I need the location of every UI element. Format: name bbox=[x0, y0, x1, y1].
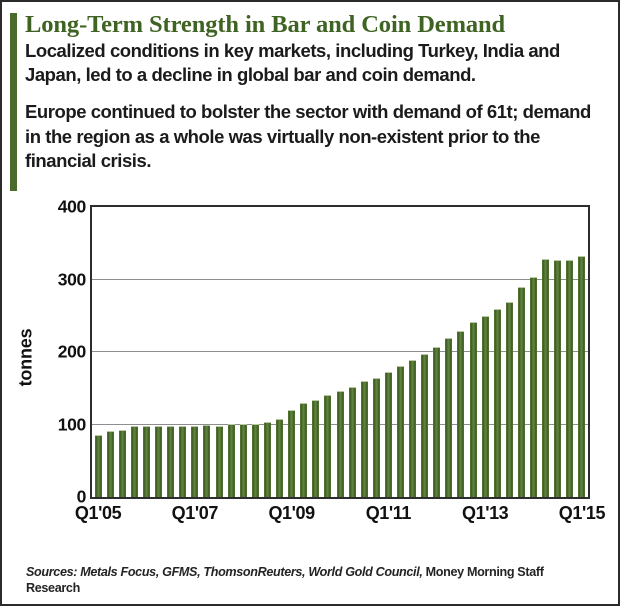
bar bbox=[216, 426, 223, 497]
y-tick-label: 300 bbox=[2, 269, 86, 290]
bar bbox=[457, 331, 464, 497]
bar bbox=[252, 424, 259, 498]
bar bbox=[337, 391, 344, 497]
x-tick-label: Q1'13 bbox=[440, 503, 530, 524]
bar bbox=[361, 381, 368, 497]
x-tick-label: Q1'07 bbox=[150, 503, 240, 524]
y-tick-label: 100 bbox=[2, 414, 86, 435]
bar bbox=[554, 260, 561, 497]
bar bbox=[373, 378, 380, 497]
bar bbox=[276, 419, 283, 497]
body-paragraph: Europe continued to bolster the sector w… bbox=[25, 100, 610, 174]
bar bbox=[300, 403, 307, 497]
bar bbox=[530, 277, 537, 497]
bar bbox=[155, 426, 162, 497]
bar bbox=[566, 260, 573, 497]
bar bbox=[167, 426, 174, 497]
bars-layer bbox=[92, 207, 588, 497]
bar bbox=[421, 354, 428, 497]
bar bbox=[119, 430, 126, 497]
bar bbox=[264, 422, 271, 497]
accent-bar bbox=[10, 13, 17, 191]
bar bbox=[542, 259, 549, 497]
bar bbox=[191, 426, 198, 497]
bar bbox=[445, 338, 452, 497]
bar bbox=[143, 426, 150, 497]
lede-paragraph: Localized conditions in key markets, inc… bbox=[25, 39, 610, 87]
infographic-card: Long-Term Strength in Bar and Coin Deman… bbox=[0, 0, 620, 606]
bar bbox=[494, 309, 501, 497]
bar bbox=[518, 287, 525, 497]
plot-area bbox=[90, 205, 590, 499]
bar bbox=[349, 387, 356, 497]
bar bbox=[107, 431, 114, 497]
bar bbox=[385, 372, 392, 497]
page-title: Long-Term Strength in Bar and Coin Deman… bbox=[25, 11, 610, 38]
x-tick-label: Q1'09 bbox=[247, 503, 337, 524]
x-tick-label: Q1'15 bbox=[537, 503, 620, 524]
sources-italic-text: Sources: Metals Focus, GFMS, ThomsonReut… bbox=[26, 565, 423, 579]
sources-note: Sources: Metals Focus, GFMS, ThomsonReut… bbox=[26, 564, 596, 596]
header-block: Long-Term Strength in Bar and Coin Deman… bbox=[10, 11, 610, 191]
bar bbox=[228, 424, 235, 498]
y-tick-label: 200 bbox=[2, 342, 86, 363]
bar bbox=[179, 426, 186, 497]
bar bbox=[409, 360, 416, 497]
y-tick-label: 400 bbox=[2, 197, 86, 218]
bar-chart: tonnes 0100200300400 Q1'05Q1'07Q1'09Q1'1… bbox=[2, 197, 620, 542]
bar bbox=[433, 347, 440, 497]
bar bbox=[482, 316, 489, 497]
bar bbox=[95, 435, 102, 497]
header-text: Long-Term Strength in Bar and Coin Deman… bbox=[25, 11, 610, 174]
x-tick-label: Q1'05 bbox=[53, 503, 143, 524]
bar bbox=[312, 400, 319, 497]
bar bbox=[240, 424, 247, 498]
bar bbox=[324, 395, 331, 497]
bar bbox=[470, 322, 477, 497]
bar bbox=[397, 366, 404, 498]
bar bbox=[203, 425, 210, 497]
x-tick-label: Q1'11 bbox=[343, 503, 433, 524]
bar bbox=[131, 426, 138, 497]
bar bbox=[578, 256, 585, 497]
bar bbox=[288, 410, 295, 497]
bar bbox=[506, 302, 513, 497]
